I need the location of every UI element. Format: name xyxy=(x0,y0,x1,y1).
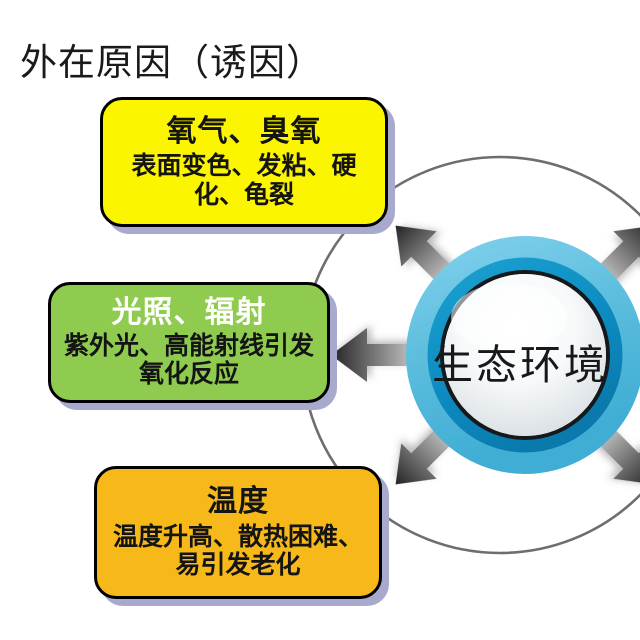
factor-box-oxygen-heading: 氧气、臭氧 xyxy=(167,115,322,149)
diagram-canvas: 外在原因（诱因） xyxy=(0,0,640,640)
factor-box-oxygen-body: 表面变色、发粘、硬化、龟裂 xyxy=(103,152,385,209)
arrow-left-icon xyxy=(331,328,417,382)
factor-box-temperature-heading: 温度 xyxy=(207,485,269,519)
factor-box-light-body: 紫外光、高能射线引发氧化反应 xyxy=(51,332,327,389)
factor-box-light-heading: 光照、辐射 xyxy=(112,296,267,330)
factor-box-temperature-body: 温度升高、散热困难、易引发老化 xyxy=(97,523,379,580)
core-highlight xyxy=(451,283,567,351)
factor-box-oxygen[interactable]: 氧气、臭氧 表面变色、发粘、硬化、龟裂 xyxy=(100,97,388,227)
factor-box-light[interactable]: 光照、辐射 紫外光、高能射线引发氧化反应 xyxy=(48,282,330,403)
page-title: 外在原因（诱因） xyxy=(20,32,324,86)
factor-box-temperature[interactable]: 温度 温度升高、散热困难、易引发老化 xyxy=(94,466,382,599)
